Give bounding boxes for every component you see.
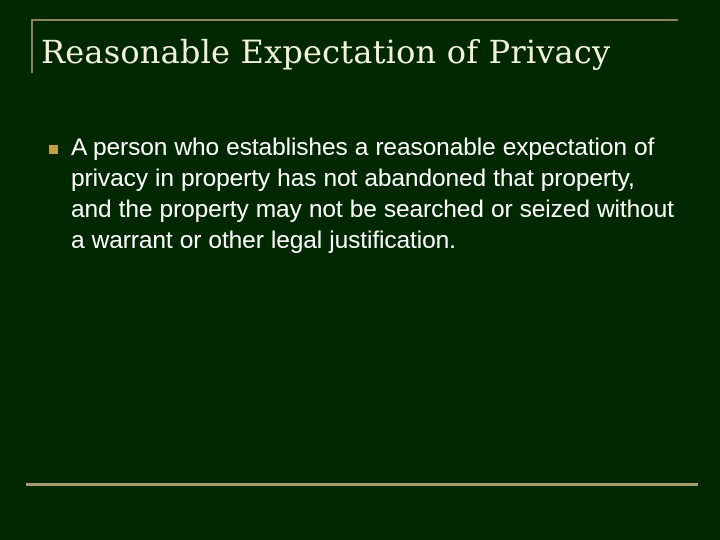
list-item: A person who establishes a reasonable ex…: [45, 132, 675, 256]
presentation-slide: Reasonable Expectation of Privacy A pers…: [0, 0, 720, 540]
slide-title: Reasonable Expectation of Privacy: [41, 30, 681, 74]
bullet-item-text: A person who establishes a reasonable ex…: [71, 132, 675, 256]
title-left-rule: [31, 19, 33, 73]
square-bullet-icon: [49, 145, 58, 154]
footer-rule: [26, 483, 698, 486]
title-top-rule: [31, 19, 678, 21]
slide-body: A person who establishes a reasonable ex…: [45, 132, 675, 256]
